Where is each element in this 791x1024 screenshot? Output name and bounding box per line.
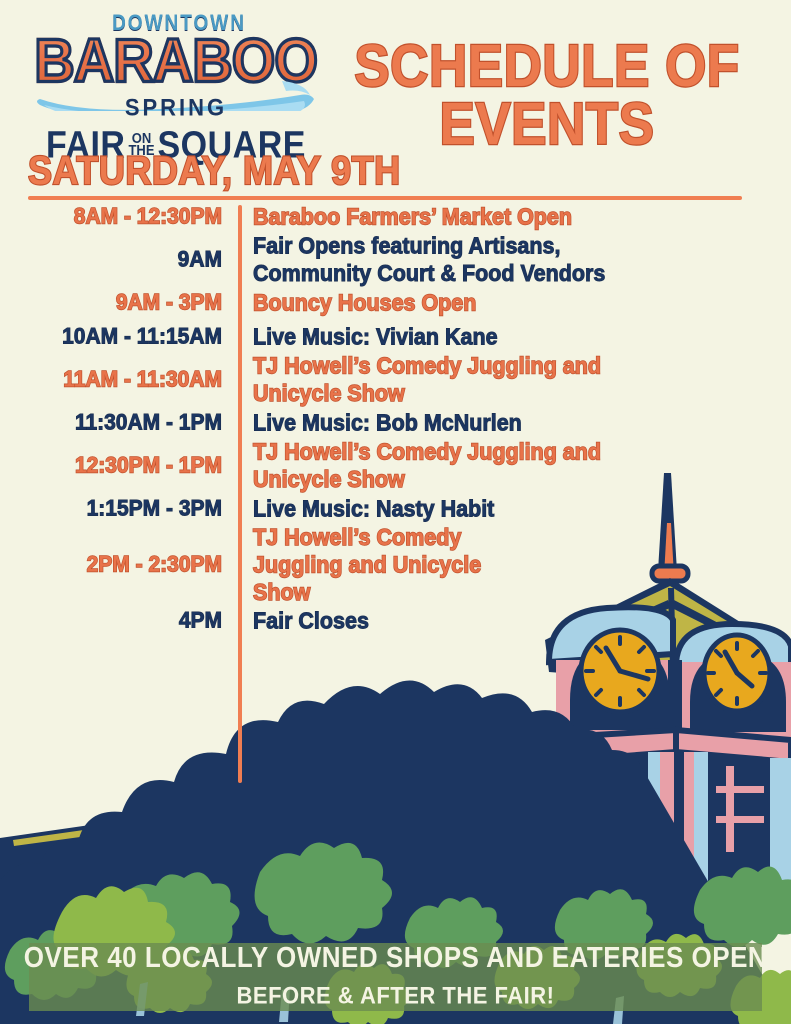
banner-line-2: BEFORE & AFTER THE FAIR! [0, 981, 791, 1012]
schedule-row-event: TJ Howell’s Comedy Juggling and Unicycle… [253, 524, 481, 607]
schedule-row-time: 9AM - 3PM [0, 289, 238, 317]
schedule-row: 10AM - 11:15AMLive Music: Vivian Kane [0, 320, 791, 354]
schedule-row-event: Baraboo Farmers’ Market Open [253, 203, 572, 231]
page-title-line2: EVENTS [347, 96, 747, 154]
schedule-row-event: TJ Howell’s Comedy Juggling and Unicycle… [253, 352, 601, 407]
schedule-row: 11AM - 11:30AMTJ Howell’s Comedy Jugglin… [0, 354, 791, 406]
schedule-row: 1:15PM - 3PMLive Music: Nasty Habit [0, 492, 791, 526]
schedule-row-time: 11AM - 11:30AM [0, 366, 238, 394]
courthouse-building [0, 796, 560, 920]
downtown-baraboo-logo: DOWNTOWN BARABOO SPRING FAIRONTHESQUARE [28, 14, 324, 144]
schedule-row-time: 1:15PM - 3PM [0, 495, 238, 523]
event-date: SATURDAY, MAY 9TH [28, 148, 401, 194]
logo-spring-text: SPRING [28, 96, 324, 120]
schedule-row-event: Fair Opens featuring Artisans, Community… [253, 232, 605, 287]
schedule-row: 12:30PM - 1PMTJ Howell’s Comedy Juggling… [0, 440, 791, 492]
schedule-row-event: TJ Howell’s Comedy Juggling and Unicycle… [253, 438, 601, 493]
logo-baraboo-wrap: BARABOO [28, 31, 324, 91]
schedule-row-time: 11:30AM - 1PM [0, 409, 238, 437]
schedule-row-time: 10AM - 11:15AM [0, 323, 238, 351]
schedule-row-time: 2PM - 2:30PM [0, 551, 238, 579]
schedule-row-event: Live Music: Vivian Kane [253, 323, 498, 351]
schedule-row: 2PM - 2:30PMTJ Howell’s Comedy Juggling … [0, 526, 791, 604]
page-title-line1: SCHEDULE OF [347, 38, 747, 96]
poster-header: DOWNTOWN BARABOO SPRING FAIRONTHESQUARE … [0, 0, 791, 196]
banner-line-1: OVER 40 LOCALLY OWNED SHOPS AND EATERIES… [0, 941, 791, 974]
banner-background [29, 943, 762, 1011]
schedule-row: 11:30AM - 1PMLive Music: Bob McNurlen [0, 406, 791, 440]
schedule-row-event: Live Music: Nasty Habit [253, 495, 494, 523]
schedule-row-time: 8AM - 12:30PM [0, 203, 238, 231]
schedule-row-event: Fair Closes [253, 607, 369, 635]
poster-page: DOWNTOWN BARABOO SPRING FAIRONTHESQUARE … [0, 0, 791, 1024]
schedule-rows: 8AM - 12:30PMBaraboo Farmers’ Market Ope… [0, 200, 791, 638]
schedule-list: 8AM - 12:30PMBaraboo Farmers’ Market Ope… [0, 200, 791, 638]
page-title: SCHEDULE OF EVENTS [347, 38, 747, 154]
schedule-row-event: Bouncy Houses Open [253, 289, 476, 317]
schedule-row-time: 9AM [0, 246, 238, 274]
foliage-illustration [0, 680, 791, 1024]
schedule-row: 8AM - 12:30PMBaraboo Farmers’ Market Ope… [0, 200, 791, 234]
schedule-row: 9AM - 3PMBouncy Houses Open [0, 286, 791, 320]
schedule-row: 4PMFair Closes [0, 604, 791, 638]
schedule-row-time: 12:30PM - 1PM [0, 452, 238, 480]
schedule-row-event: Live Music: Bob McNurlen [253, 409, 522, 437]
schedule-row: 9AMFair Opens featuring Artisans, Commun… [0, 234, 791, 286]
schedule-row-time: 4PM [0, 607, 238, 635]
logo-baraboo-text: BARABOO [35, 28, 318, 93]
bottom-banner: OVER 40 LOCALLY OWNED SHOPS AND EATERIES… [0, 926, 791, 1024]
birds-icon [404, 745, 514, 813]
